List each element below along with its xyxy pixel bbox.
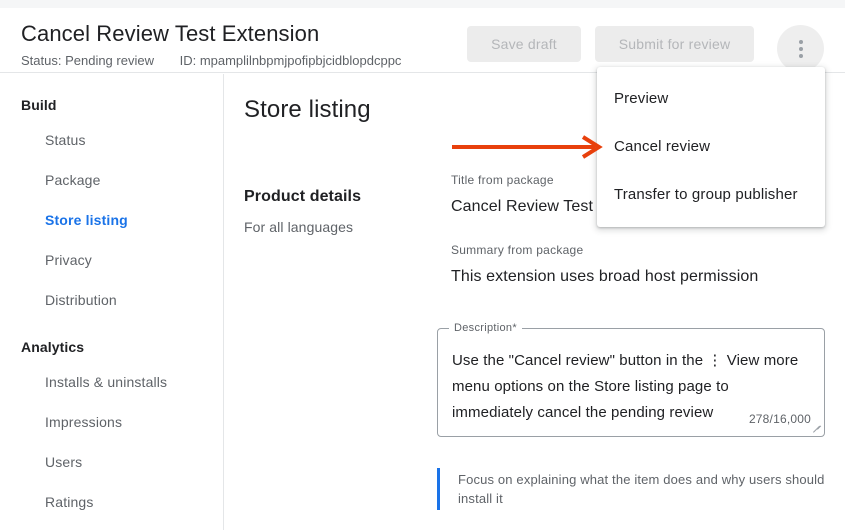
extension-title: Cancel Review Test Extension (21, 20, 319, 48)
sidebar-item-distribution[interactable]: Distribution (0, 280, 223, 320)
extension-id-text: ID: mpamplilnbpmjpofipbjcidblopdcppc (180, 53, 402, 68)
more-options-button[interactable] (777, 25, 824, 72)
description-hint: Focus on explaining what the item does a… (437, 468, 825, 510)
sidebar-item-status[interactable]: Status (0, 120, 223, 160)
app-window: Cancel Review Test Extension Status: Pen… (0, 0, 845, 530)
description-field[interactable]: Description* Use the "Cancel review" but… (437, 322, 825, 437)
page-title: Store listing (244, 95, 371, 125)
page-header: Cancel Review Test Extension Status: Pen… (0, 8, 845, 73)
product-details-heading: Product details (244, 186, 361, 208)
sidebar-item-users[interactable]: Users (0, 442, 223, 482)
summary-from-package-label: Summary from package (451, 242, 843, 258)
sidebar-item-store-listing[interactable]: Store listing (0, 200, 223, 240)
sidebar-item-package[interactable]: Package (0, 160, 223, 200)
submit-for-review-button[interactable]: Submit for review (595, 26, 754, 62)
menu-item-preview[interactable]: Preview (597, 75, 825, 123)
description-hint-text: Focus on explaining what the item does a… (458, 470, 825, 508)
save-draft-button[interactable]: Save draft (467, 26, 581, 62)
sidebar-item-installs-uninstalls[interactable]: Installs & uninstalls (0, 362, 223, 402)
description-label: Description* (449, 322, 522, 334)
sidebar-item-ratings[interactable]: Ratings (0, 482, 223, 522)
sidebar: Build Status Package Store listing Priva… (0, 74, 224, 530)
sidebar-item-impressions[interactable]: Impressions (0, 402, 223, 442)
more-vert-icon (799, 40, 803, 58)
resize-handle-icon[interactable] (812, 424, 822, 434)
menu-item-transfer-to-group-publisher[interactable]: Transfer to group publisher (597, 171, 825, 219)
status-text: Status: Pending review (21, 53, 154, 68)
sidebar-group-analytics: Analytics (0, 332, 223, 362)
summary-from-package-field: Summary from package This extension uses… (451, 242, 843, 288)
top-strip (0, 0, 845, 8)
extension-meta: Status: Pending review ID: mpamplilnbpmj… (21, 53, 401, 69)
sidebar-item-privacy[interactable]: Privacy (0, 240, 223, 280)
sidebar-group-build: Build (0, 90, 223, 120)
summary-from-package-value: This extension uses broad host permissio… (451, 266, 843, 288)
product-details-subtitle: For all languages (244, 217, 353, 237)
menu-item-cancel-review[interactable]: Cancel review (597, 123, 825, 171)
more-options-menu: Preview Cancel review Transfer to group … (597, 67, 825, 227)
description-character-counter: 278/16,000 (749, 411, 811, 427)
